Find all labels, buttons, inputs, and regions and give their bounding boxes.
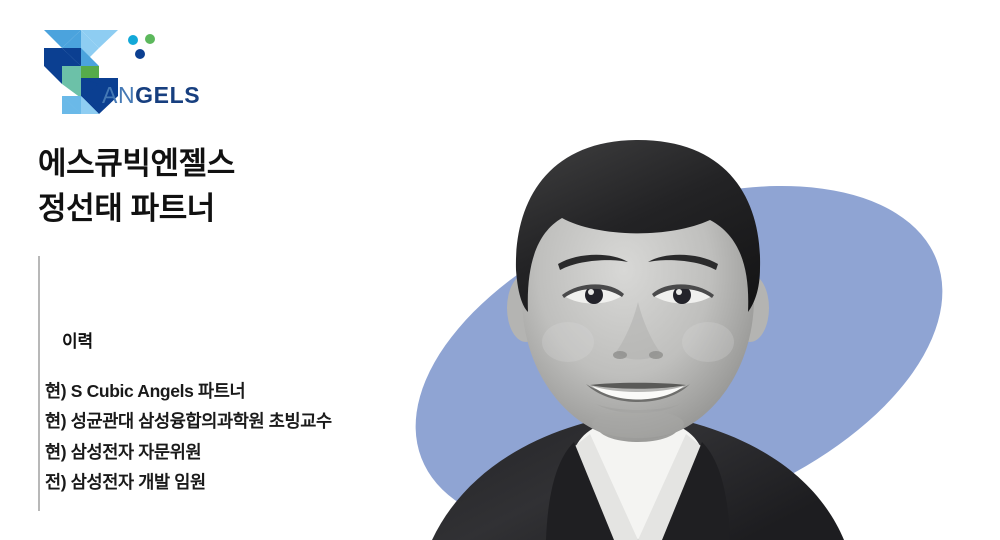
wordmark-suffix: GELS (135, 82, 200, 108)
logo-dots-icon (124, 32, 158, 64)
list-item: 현) S Cubic Angels 파트너 (45, 376, 472, 406)
vertical-divider (38, 256, 40, 511)
company-name: 에스큐빅엔젤스 (38, 141, 458, 186)
person-name: 정선태 파트너 (38, 186, 458, 231)
career-heading: 이력 (62, 333, 472, 350)
blue-ellipse-backdrop (399, 178, 959, 540)
career-section: 이력 현) S Cubic Angels 파트너 현) 성균관대 삼성융합의과학… (52, 333, 472, 498)
wordmark-prefix: AN (102, 82, 135, 108)
list-item: 현) 성균관대 삼성융합의과학원 초빙교수 (45, 406, 472, 436)
profile-card: ANGELS 에스큐빅엔젤스 정선태 파트너 이력 현) S Cubic Ang… (0, 0, 1000, 540)
page-title: 에스큐빅엔젤스 정선태 파트너 (38, 141, 458, 232)
list-item: 현) 삼성전자 자문위원 (45, 437, 472, 467)
list-item: 전) 삼성전자 개발 임원 (45, 467, 472, 497)
brand-logo[interactable]: ANGELS (38, 28, 238, 118)
brand-wordmark: ANGELS (102, 84, 200, 107)
